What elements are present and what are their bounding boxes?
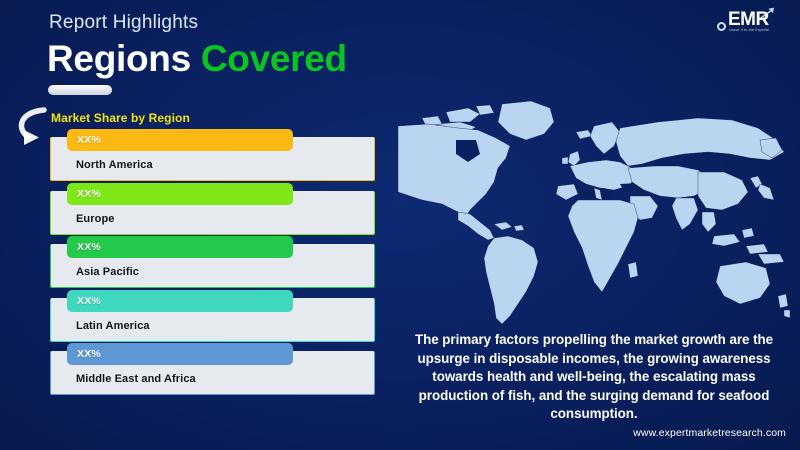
region-name-label: North America	[76, 159, 153, 171]
region-row-north-america[interactable]: XX% North America	[0, 129, 400, 183]
summary-paragraph: The primary factors propelling the marke…	[398, 331, 790, 424]
region-value-label: XX%	[77, 295, 101, 307]
region-bar[interactable]: XX%	[67, 236, 293, 258]
slide-background: Report Highlights Regions Covered EMR Le…	[0, 0, 800, 450]
logo-wordmark: EMR	[728, 10, 769, 29]
logo-ring-icon	[717, 22, 726, 31]
region-value-label: XX%	[77, 241, 101, 253]
region-name-label: Europe	[76, 213, 115, 225]
world-map-icon	[398, 96, 794, 332]
page-title-primary: Regions	[47, 38, 191, 79]
chart-title: Market Share by Region	[51, 111, 190, 125]
region-name-label: Asia Pacific	[76, 266, 139, 278]
region-row-asia-pacific[interactable]: XX% Asia Pacific	[0, 236, 400, 290]
region-name-label: Middle East and Africa	[76, 373, 196, 385]
title-underline-pill	[48, 85, 112, 95]
logo-tagline: Leave It to the Experts!	[729, 28, 770, 32]
region-bar-list: XX% North America XX% Europe XX% Asia Pa…	[0, 129, 400, 397]
region-bar[interactable]: XX%	[67, 129, 293, 151]
region-row-latin-america[interactable]: XX% Latin America	[0, 290, 400, 344]
emr-logo[interactable]: EMR Leave It to the Experts!	[714, 6, 788, 38]
region-row-middle-east-and-africa[interactable]: XX% Middle East and Africa	[0, 343, 400, 397]
region-bar[interactable]: XX%	[67, 290, 293, 312]
region-row-europe[interactable]: XX% Europe	[0, 183, 400, 237]
page-kicker: Report Highlights	[49, 12, 198, 34]
footer-url[interactable]: www.expertmarketresearch.com	[633, 427, 786, 439]
region-bar[interactable]: XX%	[67, 343, 293, 365]
region-bar[interactable]: XX%	[67, 183, 293, 205]
page-title-accent: Covered	[201, 38, 347, 79]
page-title: Regions Covered	[47, 38, 347, 80]
region-value-label: XX%	[77, 188, 101, 200]
region-value-label: XX%	[77, 134, 101, 146]
region-value-label: XX%	[77, 348, 101, 360]
world-map	[398, 96, 794, 332]
region-name-label: Latin America	[76, 320, 150, 332]
